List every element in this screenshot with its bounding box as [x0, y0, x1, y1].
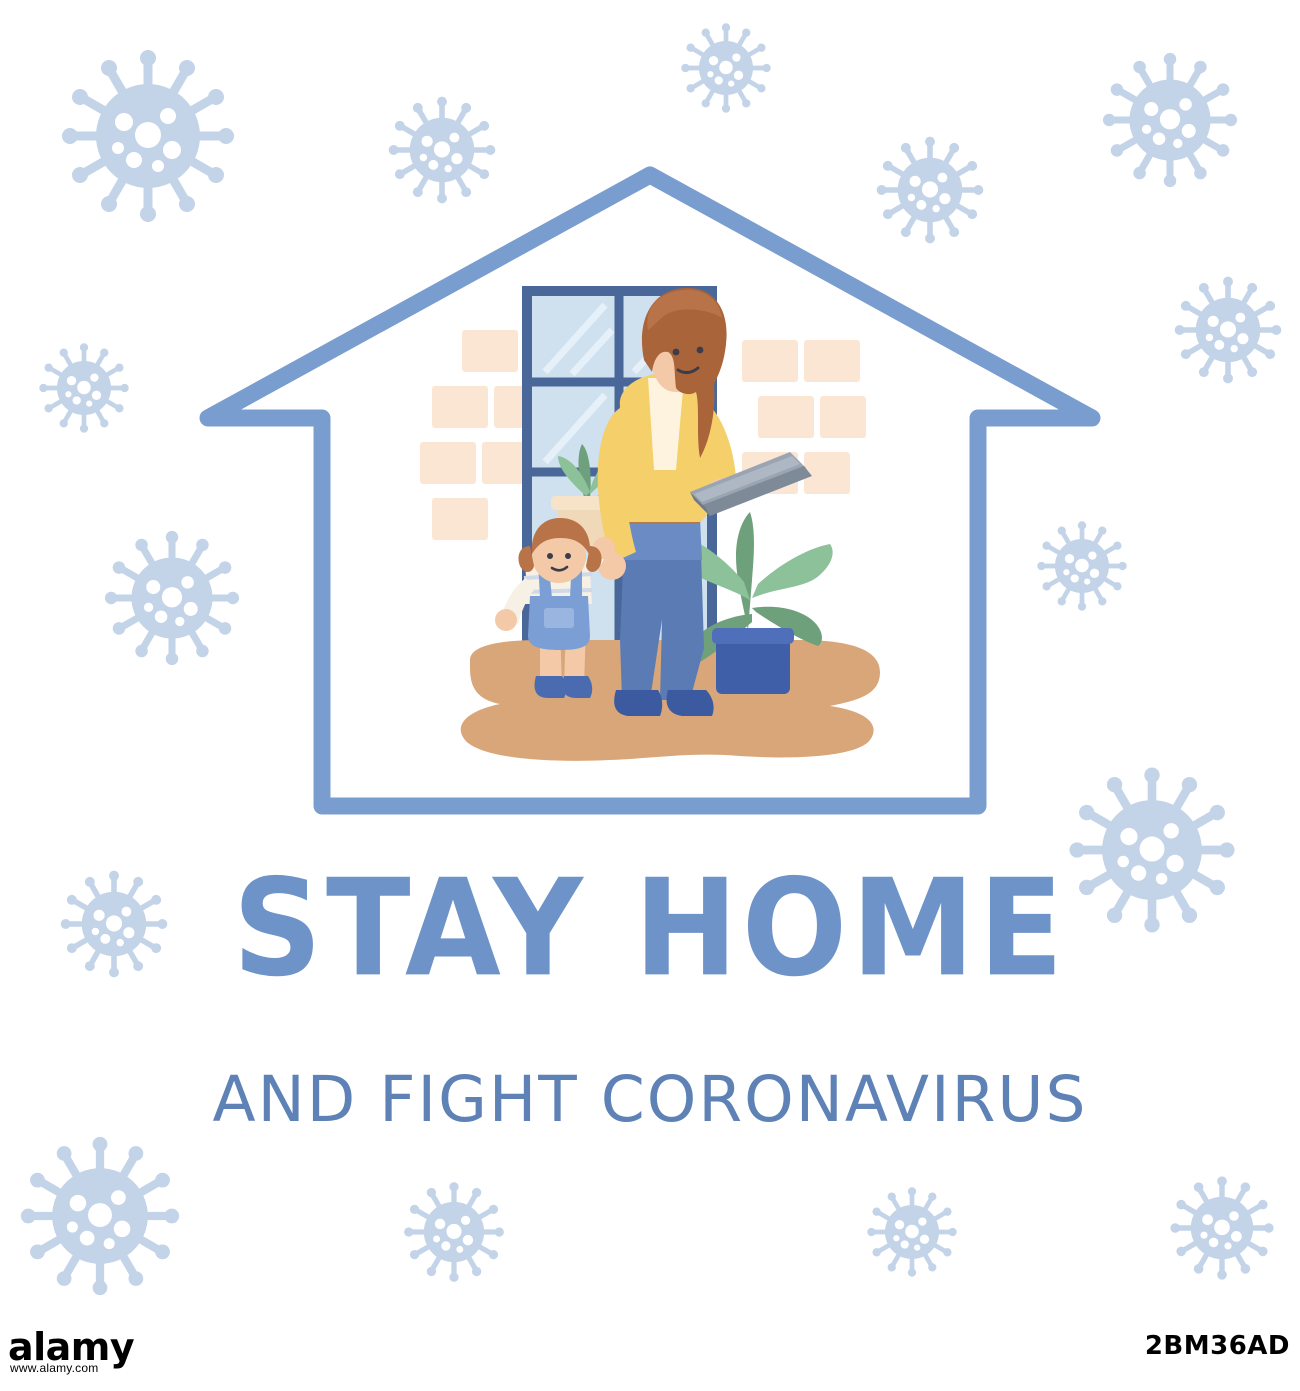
alamy-tagline: www.alamy.com: [10, 1361, 98, 1375]
stock-footer-bar: alamy www.alamy.com 2BM36AD: [0, 1300, 1300, 1391]
poster-canvas: STAY HOME AND FIGHT CORONAVIRUS alamy ww…: [0, 0, 1300, 1390]
subline-container: AND FIGHT CORONAVIRUS: [0, 1068, 1300, 1131]
poster-artboard: STAY HOME AND FIGHT CORONAVIRUS: [0, 0, 1300, 1300]
stock-footer-inner: alamy www.alamy.com 2BM36AD: [0, 1301, 1300, 1391]
page-title: STAY HOME: [0, 862, 1300, 996]
page-subtitle: AND FIGHT CORONAVIRUS: [0, 1068, 1300, 1131]
headline-container: STAY HOME: [0, 862, 1300, 986]
image-id-label: 2BM36AD: [1145, 1331, 1290, 1361]
